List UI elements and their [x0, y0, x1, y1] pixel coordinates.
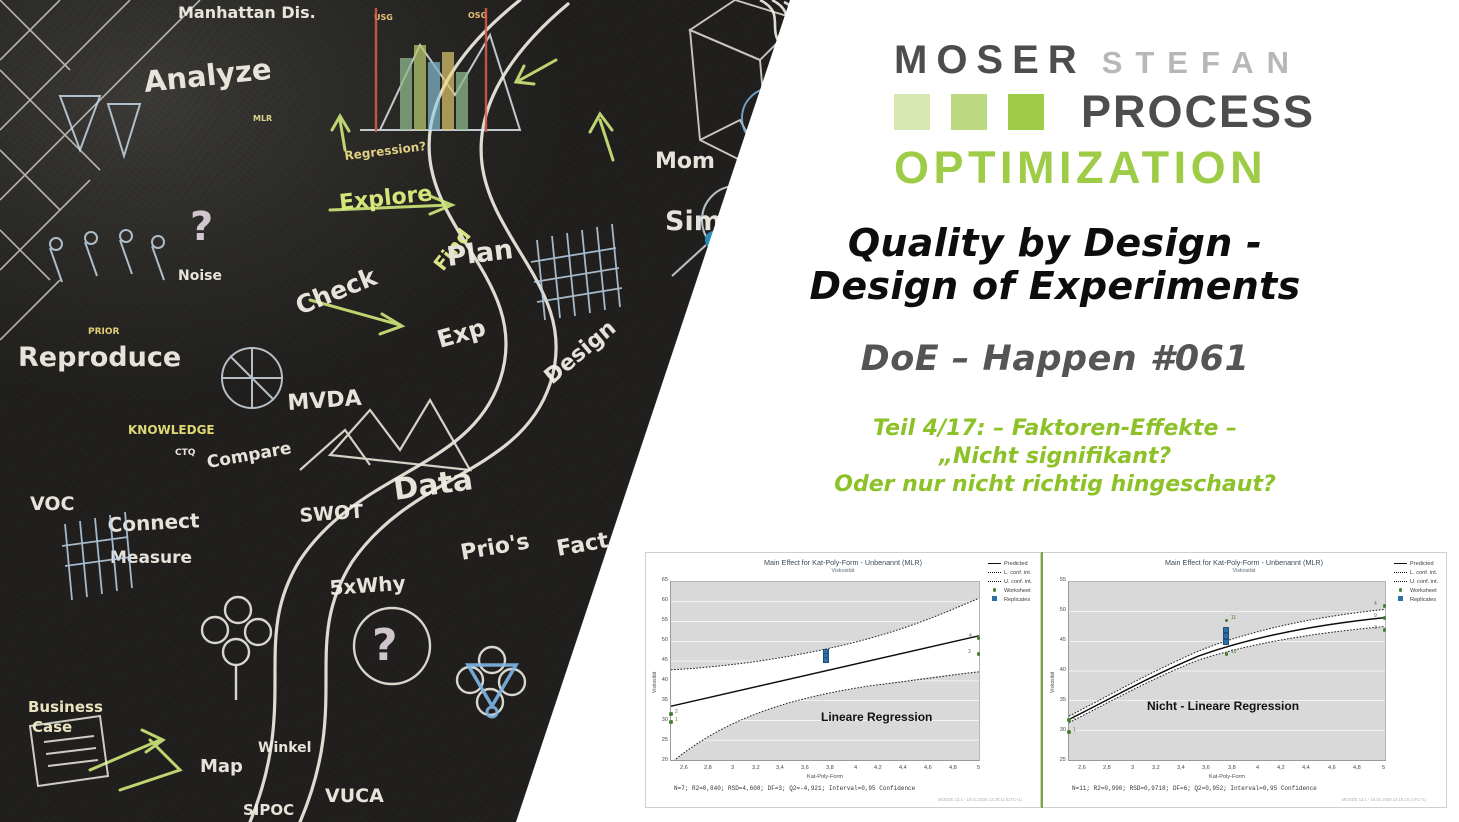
y-axis-title-right: Viskosität	[1050, 672, 1056, 693]
legend-swatch-worksheet-dot	[988, 588, 1001, 594]
data-point	[1383, 604, 1386, 607]
svg-text:?: ?	[190, 204, 213, 250]
x-tick: 4,2	[1277, 765, 1285, 771]
overlay-label-left: Lineare Regression	[821, 710, 932, 724]
x-tick: 2,8	[1103, 765, 1111, 771]
x-tick: 3,4	[776, 765, 784, 771]
x-tick: 3,6	[801, 765, 809, 771]
svg-text:Noise: Noise	[178, 268, 222, 284]
overlay-label-right: Nicht - Lineare Regression	[1147, 699, 1299, 713]
svg-text:?: ?	[372, 620, 398, 671]
legend-item-worksheet: Worksheet	[1394, 586, 1438, 595]
x-tick: 4,6	[924, 765, 932, 771]
svg-text:Exp: Exp	[434, 313, 489, 353]
data-point-label: 3	[1374, 625, 1377, 631]
data-point	[669, 720, 672, 723]
data-point	[669, 712, 672, 715]
brand-word-process: PROCESS	[1081, 86, 1315, 138]
legend-swatch-dotted	[988, 581, 1001, 582]
svg-text:PRIOR: PRIOR	[88, 327, 120, 337]
plot-svg-right	[1069, 582, 1385, 760]
x-tick: 2,8	[704, 765, 712, 771]
page-title-line1: Quality by Design -	[660, 222, 1450, 265]
svg-text:Fact: Fact	[555, 528, 611, 562]
charts-strip: Main Effect for Kat-Poly-Form - Unbenann…	[645, 552, 1459, 808]
legend-item-upper-conf: U. conf. int.	[1394, 577, 1438, 586]
legend-label: U. conf. int.	[1410, 579, 1438, 585]
x-tick: 2,6	[680, 765, 688, 771]
legend-label: Predicted	[1410, 561, 1434, 567]
legend-item-lower-conf: L. conf. int.	[1394, 568, 1438, 577]
data-point	[1225, 652, 1228, 655]
y-tick: 55	[652, 617, 668, 623]
chart-subtitle-left: Viskosität	[646, 568, 1040, 574]
data-point-label: 11	[1231, 615, 1236, 621]
svg-text:KNOWLEDGE: KNOWLEDGE	[128, 423, 215, 437]
svg-text:MVDA: MVDA	[287, 386, 363, 416]
legend-item-worksheet: Worksheet	[988, 586, 1032, 595]
legend-label: L. conf. int.	[1410, 570, 1437, 576]
y-tick: 25	[1050, 757, 1066, 763]
svg-text:Explore: Explore	[338, 181, 434, 216]
plot-area-right: 2 1 11 10 4 9 3 Nicht - Linea	[1068, 581, 1386, 761]
svg-text:SWOT: SWOT	[299, 501, 364, 527]
replicate-marker	[1223, 639, 1229, 645]
episode-subtitle: DoE – Happen #061	[660, 339, 1450, 379]
y-tick: 25	[652, 737, 668, 743]
chart-footnote-left: N=7; R2=0,840; RSD=4,608; DF=3; Q2=-4,92…	[674, 785, 915, 792]
y-tick: 45	[1050, 637, 1066, 643]
brand-word-optimization: OPTIMIZATION	[894, 142, 1267, 193]
chart-legend-right: Predicted L. conf. int. U. conf. int. Wo…	[1394, 559, 1438, 604]
data-point-label: 3	[968, 649, 971, 655]
slide-canvas: Analyze Explore Find Plan Check Exp Desi…	[0, 0, 1459, 822]
y-tick: 50	[652, 637, 668, 643]
y-tick: 45	[652, 657, 668, 663]
x-tick: 4	[854, 765, 857, 771]
legend-item-lower-conf: L. conf. int.	[988, 568, 1032, 577]
legend-item-upper-conf: U. conf. int.	[988, 577, 1032, 586]
y-axis-title-left: Viskosität	[652, 672, 658, 693]
y-tick: 35	[1050, 697, 1066, 703]
svg-text:Compare: Compare	[205, 438, 293, 473]
svg-text:Plan: Plan	[445, 234, 515, 273]
chart-watermark-left: MODDE 13.1 - 18.01.2026 12:28:11 (UTC+1)	[938, 797, 1022, 802]
legend-label: Predicted	[1004, 561, 1028, 567]
svg-text:Regression?: Regression?	[344, 139, 427, 163]
x-tick: 4,6	[1328, 765, 1336, 771]
brand-firstname: STEFAN	[1102, 45, 1302, 81]
x-tick: 3	[1131, 765, 1134, 771]
x-tick: 2,6	[1078, 765, 1086, 771]
legend-swatch-dotted	[1394, 581, 1407, 582]
chart-title-right: Main Effect for Kat-Poly-Form - Unbenann…	[1042, 558, 1446, 567]
svg-text:5xWhy: 5xWhy	[329, 571, 407, 600]
chart-title-left: Main Effect for Kat-Poly-Form - Unbenann…	[646, 558, 1040, 567]
x-tick: 3	[731, 765, 734, 771]
svg-text:Reproduce: Reproduce	[18, 342, 181, 373]
page-title-line2: Design of Experiments	[660, 265, 1450, 308]
data-point-label: 1	[675, 717, 678, 723]
legend-item-predicted: Predicted	[988, 559, 1032, 568]
data-point	[977, 652, 980, 655]
svg-text:MLR: MLR	[253, 114, 272, 123]
topic-line2: „Nicht signifikant?	[660, 443, 1450, 471]
chart-divider	[1041, 552, 1043, 808]
x-tick: 3,6	[1202, 765, 1210, 771]
svg-text:ntrol: ntrol	[186, 0, 227, 4]
data-point-label: 2	[675, 709, 678, 715]
legend-swatch-solid	[1394, 563, 1407, 564]
svg-text:Check: Check	[291, 261, 382, 320]
legend-swatch-worksheet-dot	[1394, 588, 1407, 594]
legend-swatch-replicate-square	[1394, 596, 1407, 603]
x-tick: 4,2	[874, 765, 882, 771]
x-tick: 3,8	[1228, 765, 1236, 771]
x-tick: 3,8	[826, 765, 834, 771]
x-tick: 3,2	[1152, 765, 1160, 771]
y-tick: 55	[1050, 577, 1066, 583]
svg-text:Analyze: Analyze	[142, 52, 273, 99]
chart-watermark-right: MODDE 13.1 - 18.01.2026 14:15:15 (UTC+1)	[1342, 797, 1426, 802]
data-point-label: 10	[1231, 649, 1237, 655]
legend-label: L. conf. int.	[1004, 570, 1031, 576]
data-point	[977, 636, 980, 639]
legend-swatch-replicate-square	[988, 596, 1001, 603]
plot-svg-left	[671, 582, 979, 760]
y-tick: 60	[652, 597, 668, 603]
data-point-label: 2	[1073, 715, 1076, 721]
legend-label: Replicates	[1410, 597, 1436, 603]
chart-legend-left: Predicted L. conf. int. U. conf. int. Wo…	[988, 559, 1032, 604]
svg-text:OSG: OSG	[468, 11, 487, 20]
x-tick: 3,4	[1177, 765, 1185, 771]
y-tick: 50	[1050, 607, 1066, 613]
data-point	[1383, 616, 1386, 619]
title-block: Quality by Design - Design of Experiment…	[660, 222, 1450, 498]
chart-footnote-right: N=11; R2=0,990; RSD=0,9718; DF=6; Q2=0,9…	[1072, 785, 1317, 792]
chart-card-nonlinear: Main Effect for Kat-Poly-Form - Unbenann…	[1041, 552, 1447, 808]
logo-square-mid	[951, 94, 987, 130]
svg-text:Business: Business	[28, 698, 103, 716]
svg-text:Connect: Connect	[107, 508, 200, 537]
data-point	[1383, 628, 1386, 631]
legend-swatch-solid	[988, 563, 1001, 564]
legend-item-predicted: Predicted	[1394, 559, 1438, 568]
brand-logo: MOSER STEFAN PROCESS OPTIMIZATION	[894, 20, 1434, 200]
data-point-label: 9	[1374, 613, 1377, 619]
topic-line3: Oder nur nicht richtig hingeschaut?	[660, 471, 1450, 499]
chart-subtitle-right: Viskosität	[1042, 568, 1446, 574]
brand-optimization-row: OPTIMIZATION	[894, 142, 1434, 194]
y-tick: 20	[652, 757, 668, 763]
legend-swatch-dotted	[988, 572, 1001, 573]
brand-process-row: PROCESS	[894, 86, 1434, 138]
x-tick: 3,2	[752, 765, 760, 771]
brand-name-row: MOSER STEFAN	[894, 38, 1434, 83]
data-point-label: 1	[1073, 727, 1076, 733]
logo-square-strong	[1008, 94, 1044, 130]
content-panel: MOSER STEFAN PROCESS OPTIMIZATION Qualit…	[640, 0, 1459, 822]
brand-lastname: MOSER	[894, 38, 1086, 83]
legend-label: Replicates	[1004, 597, 1030, 603]
legend-label: Worksheet	[1004, 588, 1031, 594]
legend-swatch-dotted	[1394, 572, 1407, 573]
legend-label: Worksheet	[1410, 588, 1437, 594]
x-tick: 5	[1382, 765, 1385, 771]
logo-square-light	[894, 94, 930, 130]
plot-area-left: 2 1 4 3 Lineare Regression	[670, 581, 980, 761]
x-tick: 4	[1256, 765, 1259, 771]
topic-line1: Teil 4/17: – Faktoren-Effekte –	[660, 415, 1450, 443]
x-tick: 4,8	[949, 765, 957, 771]
x-tick: 5	[977, 765, 980, 771]
x-tick: 4,4	[899, 765, 907, 771]
data-point-label: 4	[969, 633, 972, 639]
svg-text:Map: Map	[200, 756, 243, 777]
x-axis-title-left: Kat-Poly-Form	[670, 774, 980, 780]
svg-text:SIPOC: SIPOC	[243, 801, 294, 819]
legend-item-replicates: Replicates	[988, 595, 1032, 604]
svg-text:VUCA: VUCA	[325, 785, 384, 807]
x-tick: 4,8	[1353, 765, 1361, 771]
y-tick: 35	[652, 697, 668, 703]
svg-text:Prio's: Prio's	[459, 529, 532, 566]
data-point	[1067, 730, 1070, 733]
y-tick: 30	[1050, 727, 1066, 733]
legend-item-replicates: Replicates	[1394, 595, 1438, 604]
replicate-marker	[823, 657, 829, 663]
legend-label: U. conf. int.	[1004, 579, 1032, 585]
y-tick: 30	[652, 717, 668, 723]
svg-text:Design: Design	[540, 316, 621, 390]
chart-card-linear: Main Effect for Kat-Poly-Form - Unbenann…	[645, 552, 1041, 808]
svg-text:CTQ: CTQ	[175, 448, 196, 458]
y-tick: 65	[652, 577, 668, 583]
svg-text:Winkel: Winkel	[258, 740, 311, 756]
data-point	[1067, 718, 1070, 721]
data-point-label: 4	[1374, 601, 1377, 607]
svg-text:VOC: VOC	[30, 493, 74, 515]
svg-text:Manhattan Dis.: Manhattan Dis.	[178, 3, 316, 22]
x-axis-title-right: Kat-Poly-Form	[1068, 774, 1386, 780]
x-tick: 4,4	[1302, 765, 1310, 771]
